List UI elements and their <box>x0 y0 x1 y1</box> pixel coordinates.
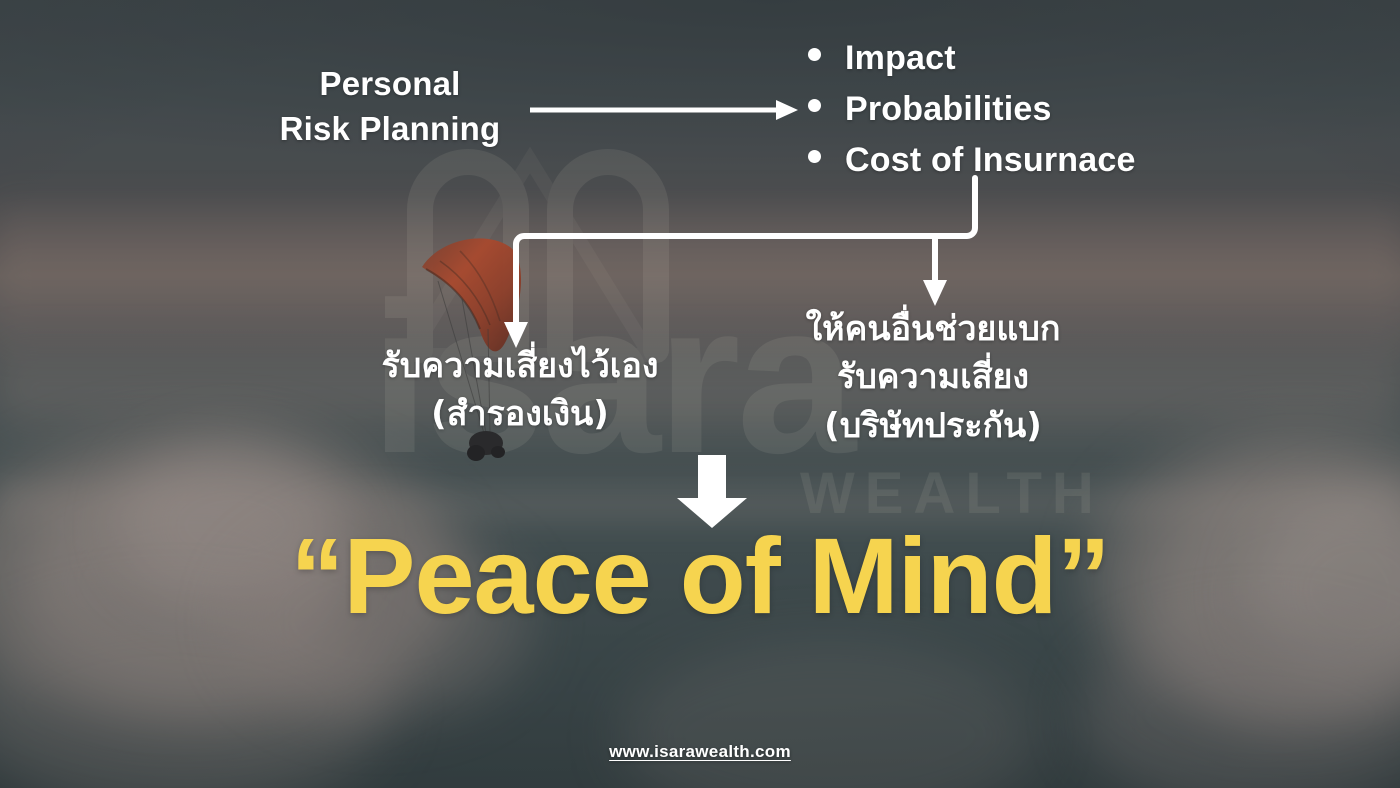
risk-factor-list: Impact Probabilities Cost of Insurnace <box>808 33 1136 186</box>
bullet-dot-icon <box>808 99 821 112</box>
outcome-line: (สำรองเงิน) <box>325 390 715 438</box>
list-item: Probabilities <box>808 84 1136 135</box>
outcome-line: รับความเสี่ยงไว้เอง <box>325 342 715 390</box>
footer-website-url[interactable]: www.isarawealth.com <box>0 742 1400 762</box>
outcome-self-retain: รับความเสี่ยงไว้เอง (สำรองเงิน) <box>325 342 715 439</box>
outcome-line: (บริษัทประกัน) <box>768 402 1098 450</box>
slide-canvas: isara WEALTH <box>0 0 1400 788</box>
bullet-dot-icon <box>808 150 821 163</box>
source-label-line1: Personal <box>215 62 565 107</box>
list-item: Cost of Insurnace <box>808 135 1136 186</box>
outcome-line: รับความเสี่ยง <box>768 353 1098 401</box>
bullet-dot-icon <box>808 48 821 61</box>
risk-factor-label: Cost of Insurnace <box>845 135 1136 186</box>
outcome-line: ให้คนอื่นช่วยแบก <box>768 305 1098 353</box>
source-label: Personal Risk Planning <box>215 62 565 151</box>
outcome-transfer-risk: ให้คนอื่นช่วยแบก รับความเสี่ยง (บริษัทปร… <box>768 305 1098 450</box>
list-item: Impact <box>808 33 1136 84</box>
risk-factor-label: Impact <box>845 33 956 84</box>
result-headline: “Peace of Mind” <box>0 522 1400 630</box>
risk-factor-label: Probabilities <box>845 84 1052 135</box>
source-label-line2: Risk Planning <box>215 107 565 152</box>
